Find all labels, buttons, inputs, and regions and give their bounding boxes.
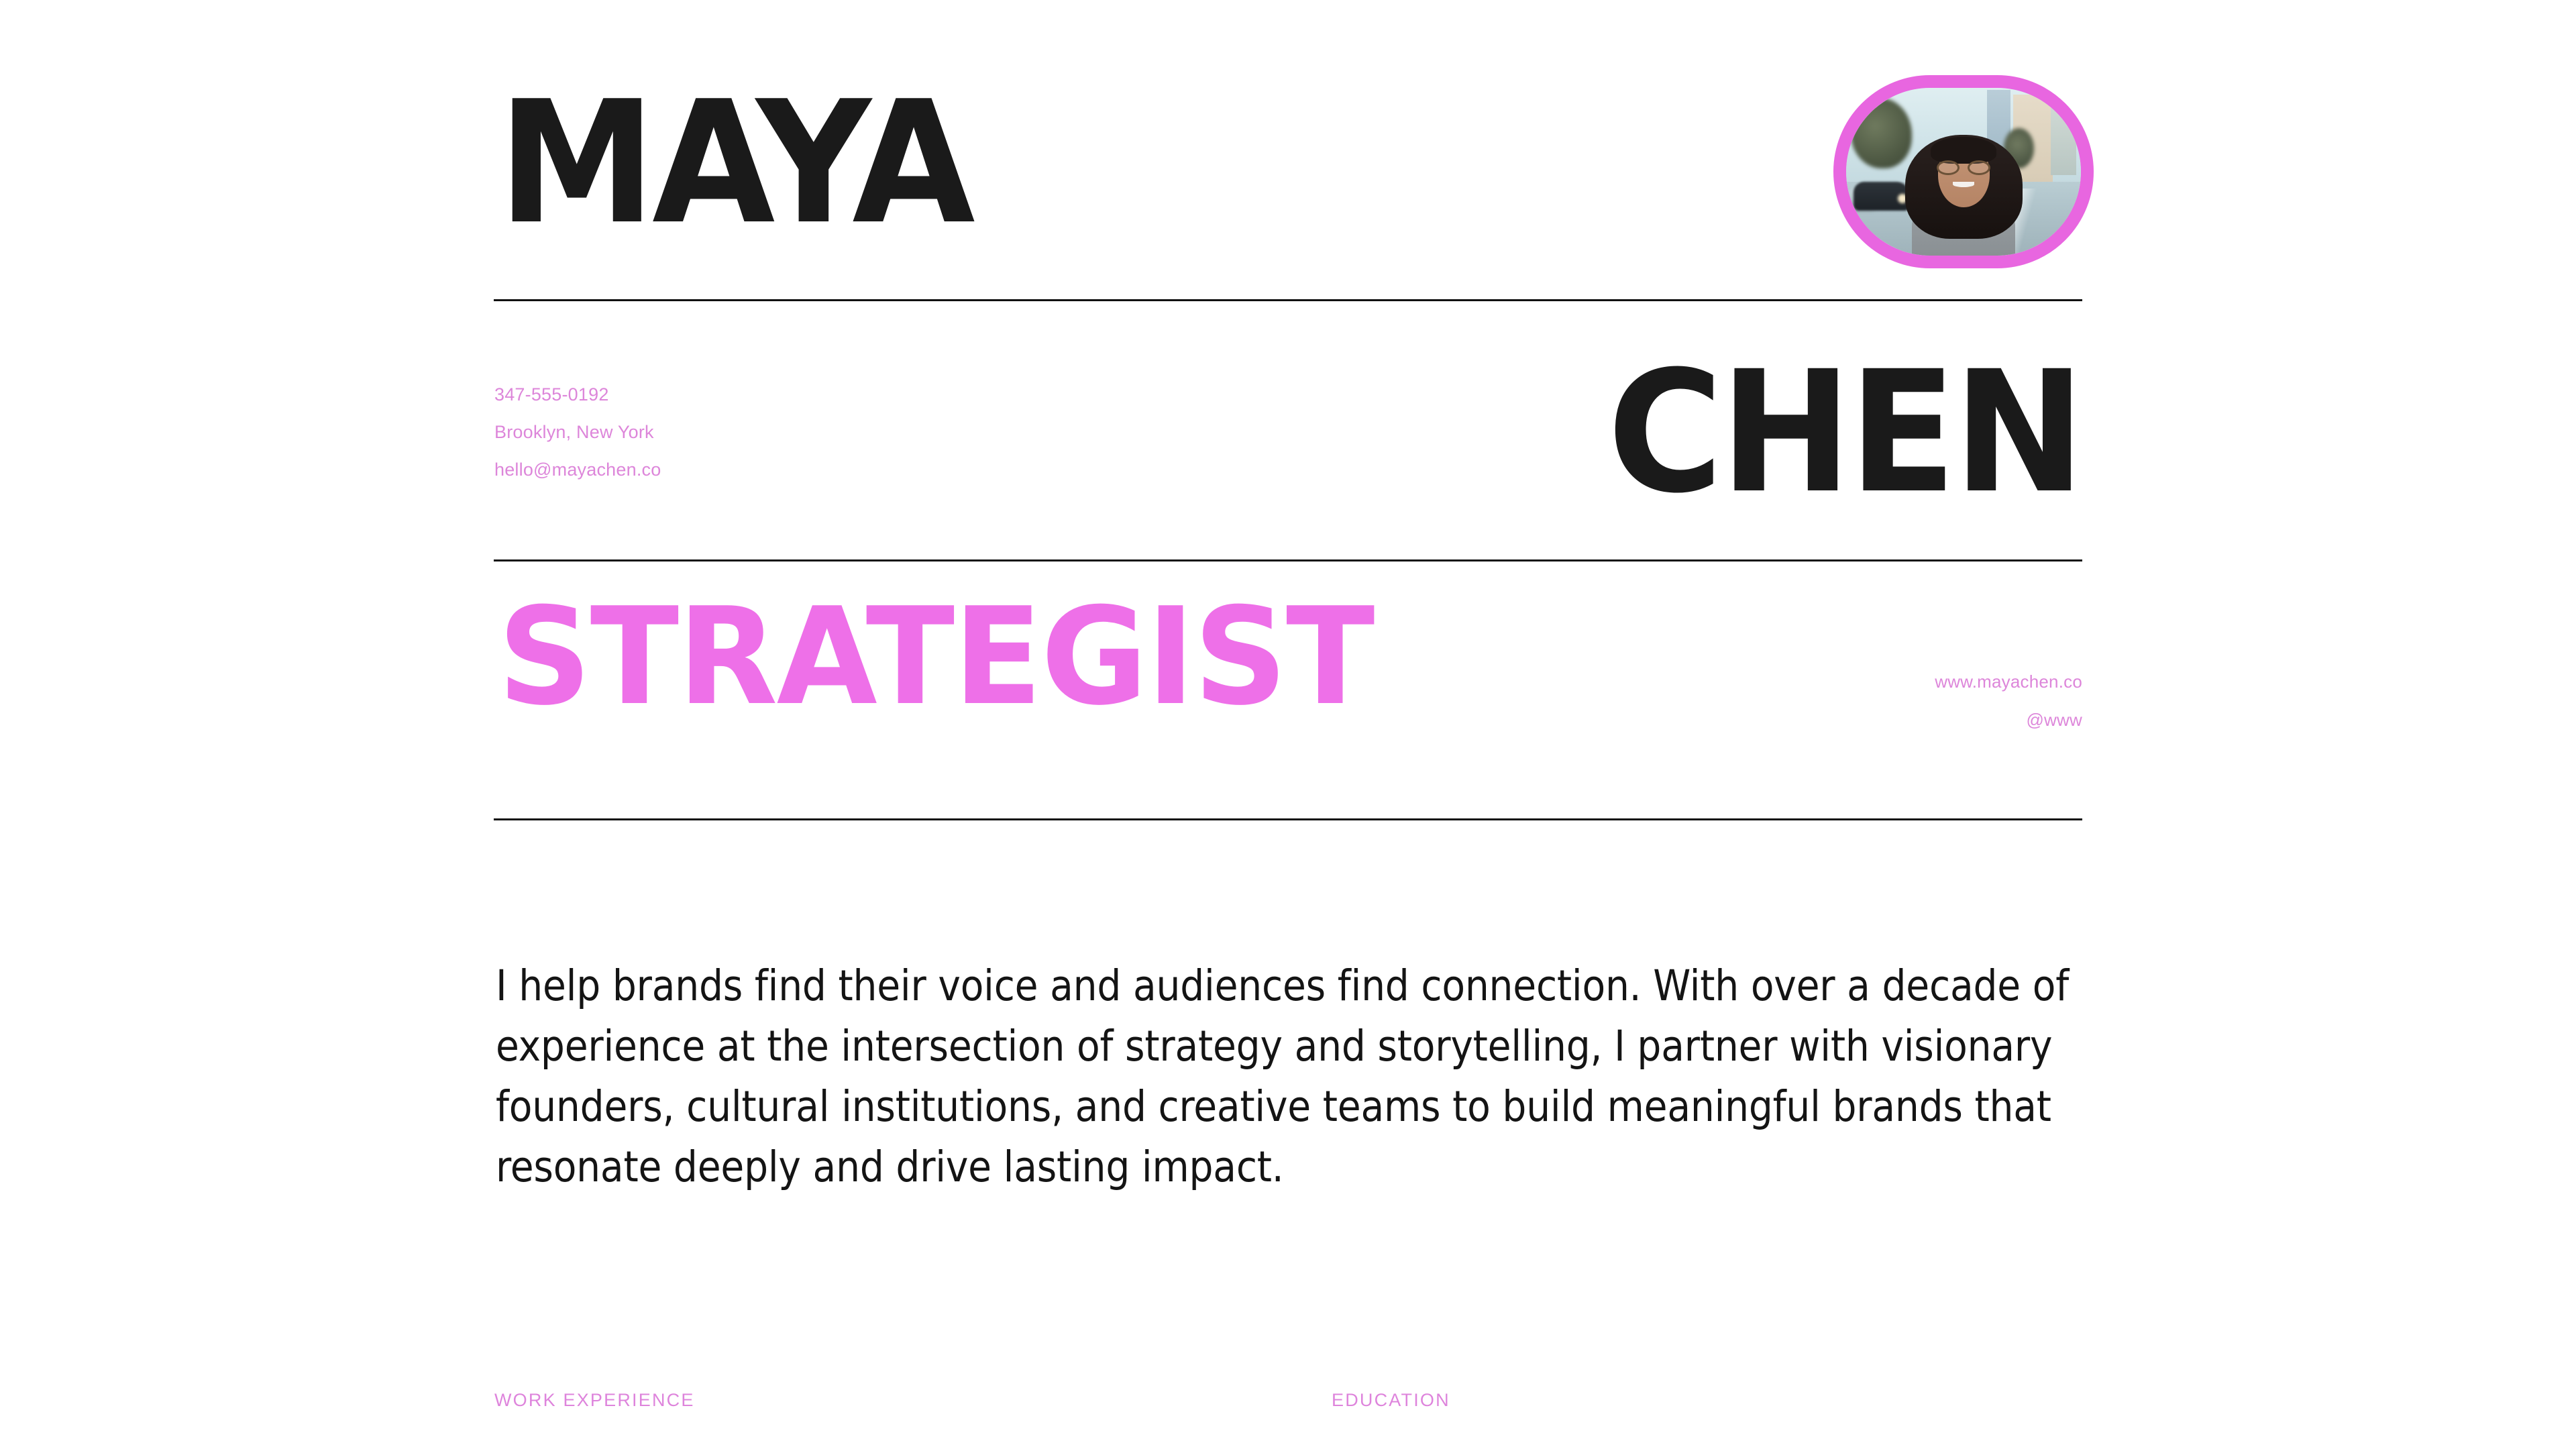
divider-top xyxy=(494,299,2082,301)
photo-building-far-right xyxy=(2051,108,2077,175)
link-handle[interactable]: @www xyxy=(1935,701,2082,739)
section-heading-work-experience: WORK EXPERIENCE xyxy=(494,1390,695,1411)
first-name-heading: MAYA xyxy=(498,79,971,248)
avatar-photo xyxy=(1846,88,2081,256)
last-name-heading: CHEN xyxy=(1607,349,2082,517)
glasses-icon xyxy=(1937,160,1991,176)
photo-person-fringe xyxy=(1931,137,1996,164)
avatar xyxy=(1833,75,2094,268)
resume-page: MAYA 347-555-0192 Brooklyn, New xyxy=(0,0,2576,1449)
summary-paragraph: I help brands find their voice and audie… xyxy=(496,956,2092,1197)
photo-person-smile xyxy=(1953,182,1974,187)
divider-middle xyxy=(494,559,2082,561)
contact-location: Brooklyn, New York xyxy=(494,413,661,451)
contact-block: 347-555-0192 Brooklyn, New York hello@ma… xyxy=(494,376,661,488)
contact-email[interactable]: hello@mayachen.co xyxy=(494,451,661,488)
contact-phone[interactable]: 347-555-0192 xyxy=(494,376,661,413)
link-website[interactable]: www.mayachen.co xyxy=(1935,663,2082,701)
divider-bottom xyxy=(494,818,2082,820)
links-block: www.mayachen.co @www xyxy=(1935,663,2082,739)
role-heading: STRATEGIST xyxy=(498,590,1373,724)
section-heading-education: EDUCATION xyxy=(1332,1390,1450,1411)
photo-tree-left xyxy=(1851,98,1912,168)
